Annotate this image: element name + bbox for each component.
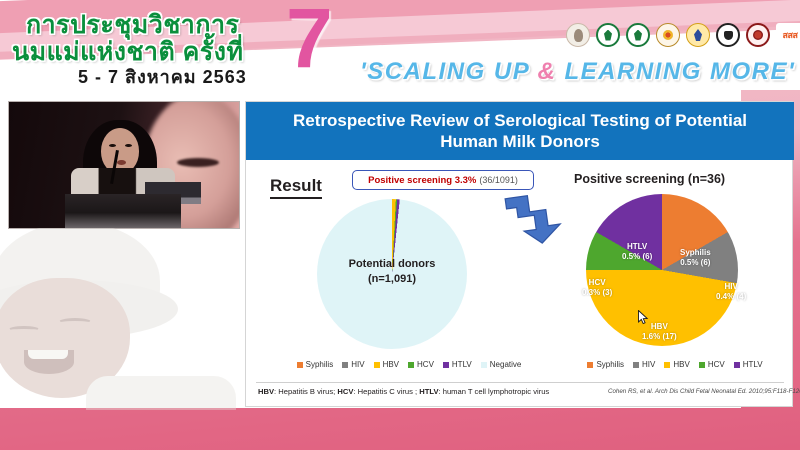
footnote-hbv-abbr: HBV [258,387,274,396]
legend-item-negative[interactable]: Negative [481,360,522,369]
legend-swatch-hiv [342,362,348,368]
potential-donors-label: Potential donors (n=1,091) [281,257,503,287]
legend-label-syphilis: Syphilis [596,360,624,369]
baby-eye-left [8,326,40,334]
legend-item-hiv[interactable]: HIV [633,360,655,369]
legend-item-htlv[interactable]: HTLV [734,360,763,369]
potential-donors-subtitle: (n=1,091) [281,272,503,287]
logo-sss-text: สสส [783,28,798,42]
slice-label-syphilis-name: Syphilis [680,248,711,258]
slice-label-hiv-value: 0.4% (4) [716,292,746,302]
legend-item-hbv[interactable]: HBV [664,360,689,369]
legend-label-htlv: HTLV [743,360,763,369]
conference-header-banner: การประชุมวิชาการ นมแม่แห่งชาติ ครั้งที่ … [0,0,800,90]
baby-teeth [28,350,68,359]
speaker-eye-left [109,144,116,147]
legend-swatch-hbv [374,362,380,368]
legend-swatch-htlv [443,362,449,368]
callout-main-text: Positive screening 3.3% [368,175,476,186]
speaker-video-thumbnail[interactable] [8,101,240,229]
slice-label-hiv: HIV 0.4% (4) [716,282,746,302]
footnote-divider [256,382,784,383]
footnote-hcv-text: : Hepatitis C virus ; [353,387,419,396]
positive-screening-callout: Positive screening 3.3% (36/1091) [352,170,534,190]
video-blurred-eye [177,158,219,167]
legend-label-hbv: HBV [673,360,689,369]
abbreviations-footnote: HBV: Hepatitis B virus; HCV: Hepatitis C… [258,387,549,396]
legend-swatch-hcv [699,362,705,368]
slice-label-hcv: HCV 0.3% (3) [582,278,612,298]
tagline-part-1: 'SCALING UP [360,58,538,85]
podium [65,194,181,228]
slice-label-htlv: HTLV 0.5% (6) [622,242,652,262]
legend-swatch-hcv [408,362,414,368]
baby-eye-right [58,318,92,327]
legend-item-hcv[interactable]: HCV [699,360,725,369]
slice-label-syphilis: Syphilis 0.5% (6) [680,248,711,268]
mouse-cursor-icon [638,310,649,325]
logo-black-circle-emblem [716,23,740,47]
legend-label-hcv: HCV [417,360,434,369]
legend-label-hiv: HIV [642,360,655,369]
sponsor-logos-row: สสส [566,23,800,47]
slice-label-htlv-name: HTLV [622,242,652,252]
baby-mouth [24,350,74,374]
logo-thai-royal-seal [566,23,590,47]
result-heading: Result [270,176,322,199]
logo-green-medical-1 [596,23,620,47]
positive-screening-chart: Positive screening (n=36) Syphilis 0.5% … [564,172,786,358]
slide-title: Retrospective Review of Serological Test… [246,102,794,160]
footnote-hcv-abbr: HCV [337,387,353,396]
legend-label-hcv: HCV [708,360,725,369]
slice-label-hcv-value: 0.3% (3) [582,288,612,298]
legend-swatch-syphilis [587,362,593,368]
baby-photo-watermark [0,228,240,410]
legend-item-hcv[interactable]: HCV [408,360,434,369]
source-citation: Cohen RS, et al. Arch Dis Child Fetal Ne… [608,388,800,395]
legend-swatch-hbv [664,362,670,368]
legend-label-hbv: HBV [383,360,399,369]
legend-label-hiv: HIV [351,360,364,369]
legend-positive-screening: SyphilisHIVHBVHCVHTLV [564,360,786,369]
footnote-htlv-abbr: HTLV [419,387,438,396]
logo-green-medical-2 [626,23,650,47]
logo-royal-crest [686,23,710,47]
footnote-hbv-text: : Hepatitis B virus; [274,387,337,396]
speaker-mouth [117,160,126,165]
slice-label-hbv-value: 1.6% (17) [642,332,677,342]
screen-canvas: การประชุมวิชาการ นมแม่แห่งชาติ ครั้งที่ … [0,0,800,450]
legend-label-syphilis: Syphilis [306,360,334,369]
slice-label-htlv-value: 0.5% (6) [622,252,652,262]
conference-tagline: 'SCALING UP & LEARNING MORE' [360,58,795,86]
logo-red-garuda [746,23,770,47]
legend-item-hbv[interactable]: HBV [374,360,399,369]
legend-item-htlv[interactable]: HTLV [443,360,472,369]
logo-sss-thaihealth: สสส [776,23,800,47]
logo-ministry-public-health [656,23,680,47]
legend-swatch-syphilis [297,362,303,368]
legend-swatch-htlv [734,362,740,368]
tagline-part-2: LEARNING MORE' [556,58,795,85]
legend-item-syphilis[interactable]: Syphilis [297,360,334,369]
legend-item-syphilis[interactable]: Syphilis [587,360,624,369]
slice-label-hiv-name: HIV [716,282,746,292]
conference-edition-number: 7 [286,0,333,80]
callout-fraction-text: (36/1091) [479,175,518,185]
blue-arrow-icon [504,189,562,247]
potential-donors-chart: Potential donors (n=1,091) [281,199,503,355]
legend-item-hiv[interactable]: HIV [342,360,364,369]
slice-label-hcv-name: HCV [582,278,612,288]
slice-label-syphilis-value: 0.5% (6) [680,258,711,268]
positive-screening-title: Positive screening (n=36) [564,172,786,186]
conference-date-thai: 5 - 7 สิงหาคม 2563 [78,62,247,90]
legend-label-htlv: HTLV [452,360,472,369]
potential-donors-title: Potential donors [281,257,503,272]
legend-swatch-negative [481,362,487,368]
legend-swatch-hiv [633,362,639,368]
presentation-slide: Retrospective Review of Serological Test… [245,101,793,407]
footnote-htlv-text: : human T cell lymphotropic virus [439,387,550,396]
baby-body [86,376,236,410]
legend-label-negative: Negative [490,360,522,369]
speaker-eye-right [125,144,132,147]
legend-potential-donors: SyphilisHIVHBVHCVHTLVNegative [284,360,534,369]
tagline-ampersand: & [538,58,557,85]
slice-label-hbv: HBV 1.6% (17) [642,322,677,342]
